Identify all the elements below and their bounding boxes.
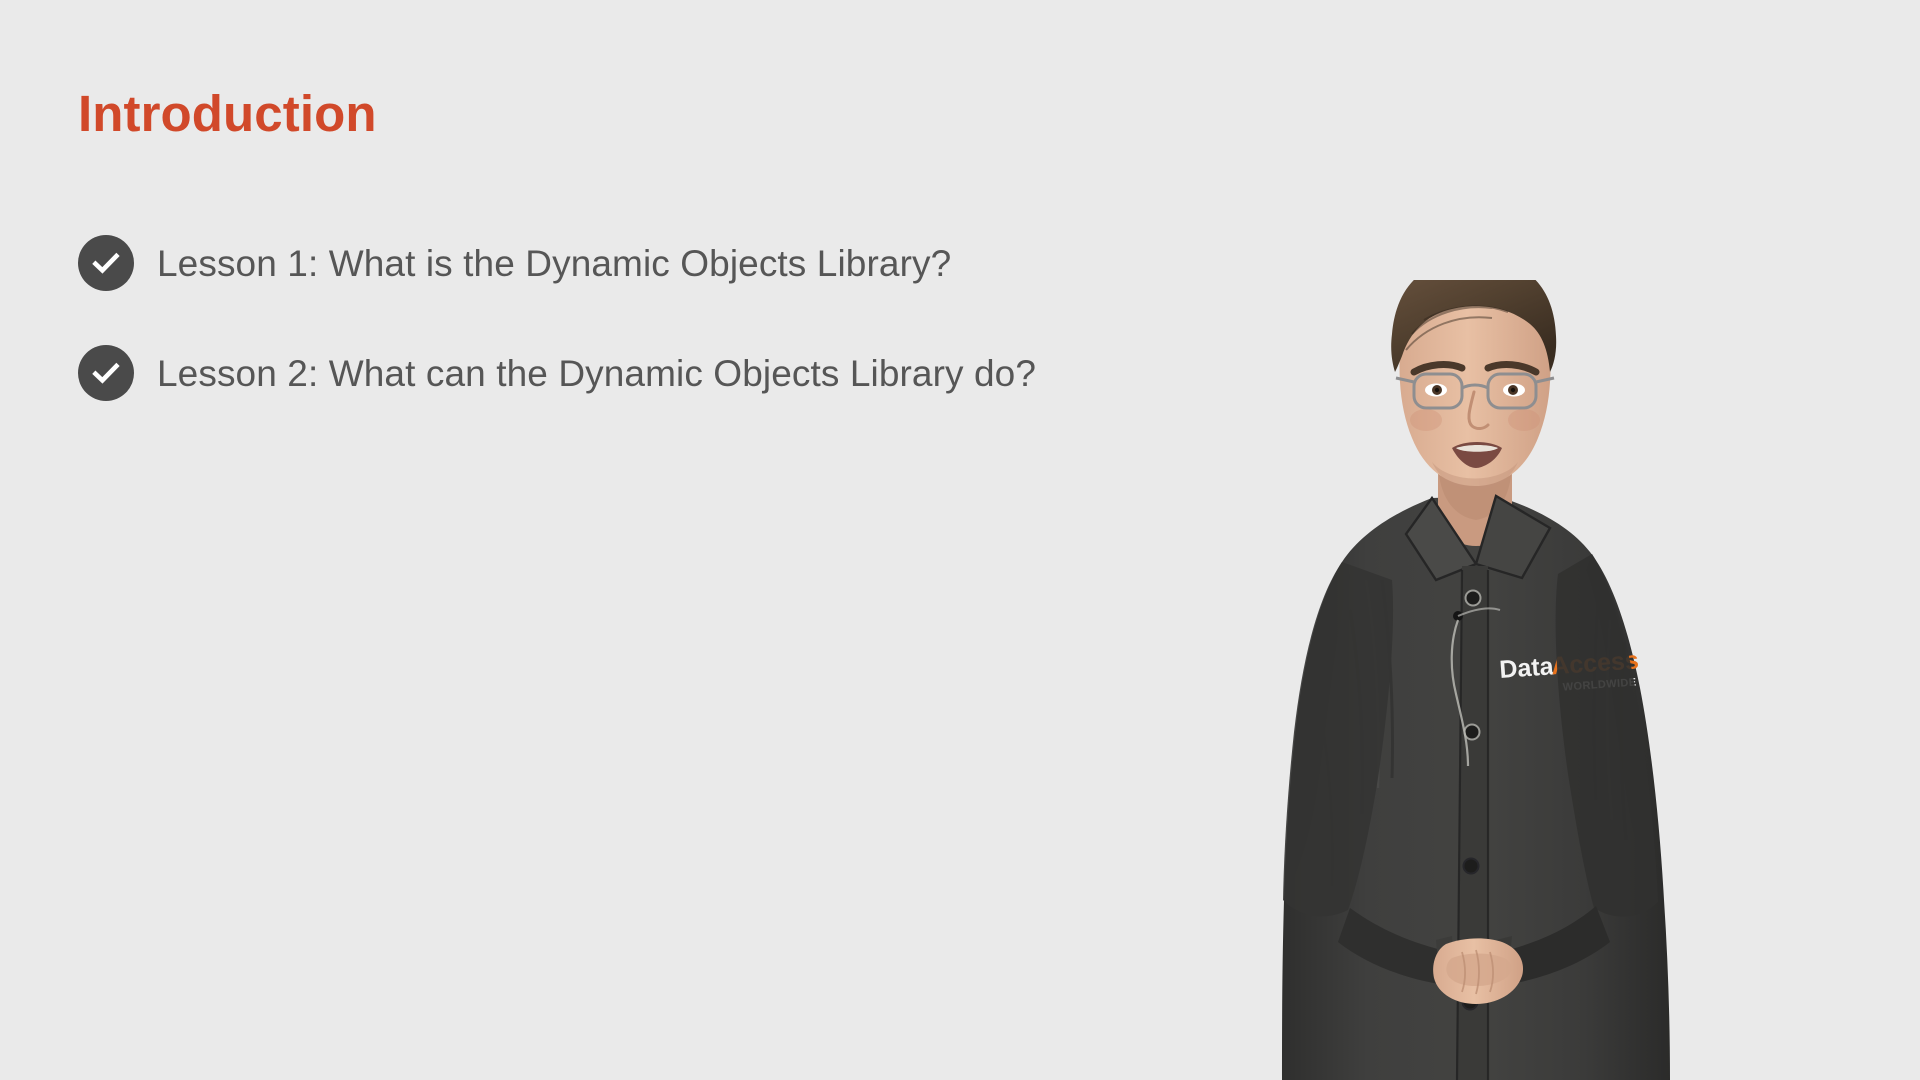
lesson-1-label: Lesson 1: What is the Dynamic Objects Li… xyxy=(157,245,951,282)
logo-worldwide-text: WORLDWIDE xyxy=(1562,677,1637,694)
list-item: Lesson 1: What is the Dynamic Objects Li… xyxy=(78,234,1228,292)
presenter-video-overlay: Data Access WORLDWIDE xyxy=(1200,280,1920,1080)
lesson-2-label: Lesson 2: What can the Dynamic Objects L… xyxy=(157,355,1036,392)
check-circle-icon xyxy=(78,345,134,401)
logo-data-text: Data xyxy=(1498,652,1555,684)
list-item: Lesson 2: What can the Dynamic Objects L… xyxy=(78,344,1228,402)
logo-access-text: Access xyxy=(1550,646,1639,680)
check-circle-icon xyxy=(78,235,134,291)
lesson-list: Lesson 1: What is the Dynamic Objects Li… xyxy=(78,234,1228,454)
slide-canvas: Introduction Lesson 1: What is the Dynam… xyxy=(0,0,1920,1080)
page-title: Introduction xyxy=(78,86,377,142)
